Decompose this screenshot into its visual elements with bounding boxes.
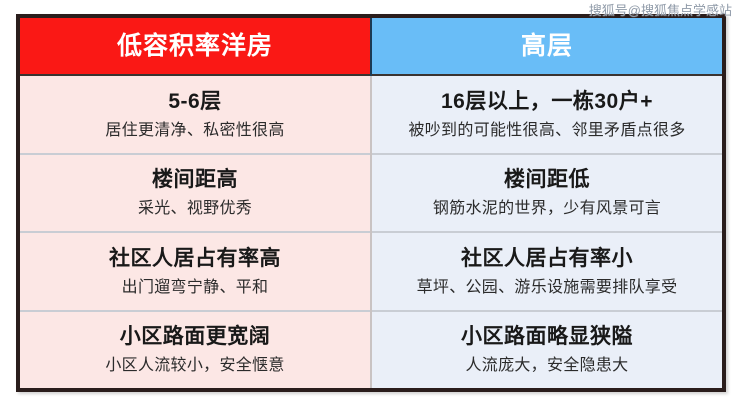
table-row: 小区路面更宽阔 小区人流较小，安全惬意 小区路面略显狭隘 人流庞大，安全隐患大 [20,311,722,389]
cell-left-row-1: 5-6层 居住更清净、私密性很高 [20,75,371,154]
cell-subtitle: 人流庞大，安全隐患大 [382,355,712,376]
cell-left-row-4: 小区路面更宽阔 小区人流较小，安全惬意 [20,311,371,389]
watermark-label: 搜狐号@搜狐焦点学感站 [589,2,732,20]
cell-right-row-4: 小区路面略显狭隘 人流庞大，安全隐患大 [371,311,722,389]
column-header-low-plot-ratio: 低容积率洋房 [20,18,371,75]
cell-left-row-3: 社区人居占有率高 出门遛弯宁静、平和 [20,232,371,311]
cell-subtitle: 草坪、公园、游乐设施需要排队享受 [382,277,712,298]
column-header-right-label: 高层 [521,32,573,60]
cell-title: 社区人居占有率小 [382,245,712,272]
cell-content: 楼间距低 钢筋水泥的世界，少有风景可言 [372,162,722,223]
cell-content: 小区路面更宽阔 小区人流较小，安全惬意 [20,319,370,380]
cell-title: 16层以上，一栋30户+ [382,88,712,115]
comparison-table-container: 低容积率洋房 高层 5-6层 居住更清净、私密性很高 [16,14,726,392]
cell-left-row-2: 楼间距高 采光、视野优秀 [20,154,371,233]
cell-title: 小区路面更宽阔 [30,323,360,350]
cell-content: 5-6层 居住更清净、私密性很高 [20,84,370,145]
table-body: 5-6层 居住更清净、私密性很高 16层以上，一栋30户+ 被吵到的可能性很高、… [20,75,722,388]
table-header: 低容积率洋房 高层 [20,18,722,75]
comparison-table: 低容积率洋房 高层 5-6层 居住更清净、私密性很高 [20,18,722,388]
cell-title: 楼间距高 [30,166,360,193]
cell-right-row-3: 社区人居占有率小 草坪、公园、游乐设施需要排队享受 [371,232,722,311]
table-row: 5-6层 居住更清净、私密性很高 16层以上，一栋30户+ 被吵到的可能性很高、… [20,75,722,154]
cell-subtitle: 小区人流较小，安全惬意 [30,355,360,376]
table-row: 楼间距高 采光、视野优秀 楼间距低 钢筋水泥的世界，少有风景可言 [20,154,722,233]
cell-content: 社区人居占有率高 出门遛弯宁静、平和 [20,241,370,302]
cell-content: 小区路面略显狭隘 人流庞大，安全隐患大 [372,319,722,380]
cell-title: 小区路面略显狭隘 [382,323,712,350]
cell-content: 社区人居占有率小 草坪、公园、游乐设施需要排队享受 [372,241,722,302]
column-header-left-label: 低容积率洋房 [117,32,273,60]
cell-title: 社区人居占有率高 [30,245,360,272]
cell-content: 16层以上，一栋30户+ 被吵到的可能性很高、邻里矛盾点很多 [372,84,722,145]
table-header-row: 低容积率洋房 高层 [20,18,722,75]
table-row: 社区人居占有率高 出门遛弯宁静、平和 社区人居占有率小 草坪、公园、游乐设施需要… [20,232,722,311]
cell-subtitle: 被吵到的可能性很高、邻里矛盾点很多 [382,120,712,141]
cell-subtitle: 钢筋水泥的世界，少有风景可言 [382,198,712,219]
page-root: 搜狐号@搜狐焦点学感站 低容积率洋房 高层 5-6层 [0,0,740,408]
cell-subtitle: 居住更清净、私密性很高 [30,120,360,141]
cell-right-row-2: 楼间距低 钢筋水泥的世界，少有风景可言 [371,154,722,233]
cell-subtitle: 出门遛弯宁静、平和 [30,277,360,298]
cell-content: 楼间距高 采光、视野优秀 [20,162,370,223]
cell-right-row-1: 16层以上，一栋30户+ 被吵到的可能性很高、邻里矛盾点很多 [371,75,722,154]
column-header-high-rise: 高层 [371,18,722,75]
cell-subtitle: 采光、视野优秀 [30,198,360,219]
cell-title: 楼间距低 [382,166,712,193]
cell-title: 5-6层 [30,88,360,115]
